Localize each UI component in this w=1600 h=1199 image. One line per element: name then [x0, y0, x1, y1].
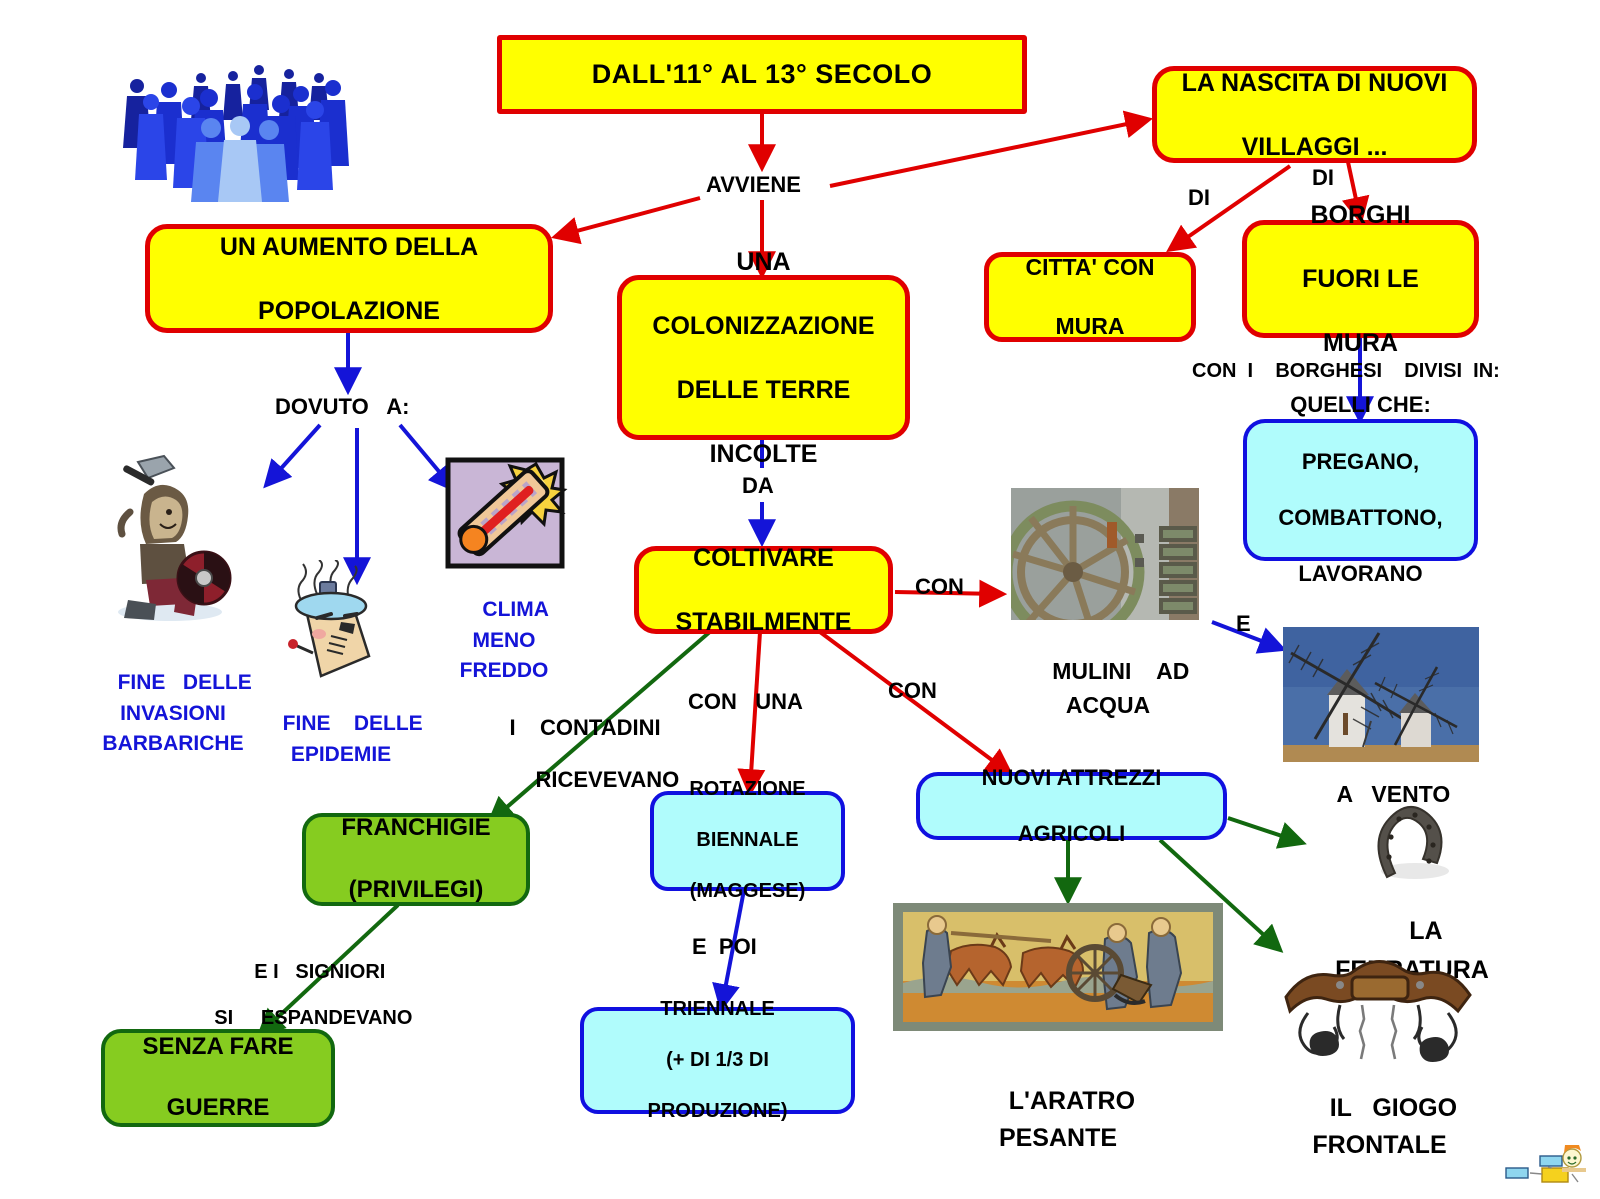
node-nuovi-attrezzi-agricoli-label: NUOVI ATTREZZIAGRICOLI [920, 764, 1223, 848]
connector-label-e-poi: E POI [692, 934, 757, 960]
caption-il-giogo-frontale: IL GIOGOFRONTALE [1272, 1052, 1487, 1199]
connector-label-di-citta: DI [1188, 185, 1210, 211]
connector-label-da: DA [742, 473, 774, 499]
node-coltivare-stabilmente[interactable]: COLTIVARESTABILMENTE [634, 546, 893, 634]
sick-person-illustration [265, 560, 395, 680]
node-aumento-popolazione[interactable]: UN AUMENTO DELLAPOPOLAZIONE [145, 224, 553, 333]
caption-fine-invasioni-barbariche: FINE DELLEINVASIONIBARBARICHE [78, 638, 268, 790]
node-colonizzazione-terre-incolte[interactable]: UNACOLONIZZAZIONEDELLE TERREINCOLTE [617, 275, 910, 440]
barbarian-warrior-illustration [100, 452, 240, 624]
connector-label-e-vento: E [1236, 611, 1251, 637]
medieval-plough-illustration [893, 903, 1223, 1031]
node-rotazione-biennale-label: ROTAZIONEBIENNALE(MAGGESE) [654, 777, 841, 905]
connector-label-con-mulini: CON [915, 574, 964, 600]
horseshoe-photo [1357, 795, 1457, 885]
node-borghi-fuori-le-mura[interactable]: BORGHIFUORI LEMURA [1242, 220, 1479, 338]
node-title[interactable]: DALL'11° AL 13° SECOLO [497, 35, 1027, 114]
connector-label-signori-espandevano: E I SIGNIORI SI ESPANDEVANO [192, 938, 412, 1053]
node-nuovi-attrezzi-agricoli[interactable]: NUOVI ATTREZZIAGRICOLI [916, 772, 1227, 840]
node-nascita-villaggi[interactable]: LA NASCITA DI NUOVIVILLAGGI ... [1152, 66, 1477, 163]
thermometer-sun-illustration [440, 452, 570, 574]
node-quelli-che-label: QUELLI CHE:PREGANO,COMBATTONO,LAVORANO [1247, 391, 1474, 588]
connector-label-con-i-borghesi: CON I BORGHESI DIVISI IN: [1192, 360, 1500, 383]
caption-aratro-pesante: L'ARATROPESANTE [933, 1045, 1183, 1195]
concept-map-logo [1498, 1140, 1590, 1188]
windmills-photo [1283, 627, 1479, 762]
connector-label-con-una: CON UNA [688, 689, 803, 715]
node-title-label: DALL'11° AL 13° SECOLO [502, 57, 1022, 92]
caption-mulini-ad-acqua: MULINI ADACQUA [1018, 622, 1198, 755]
connector-label-con-attrezzi: CON [888, 678, 937, 704]
caption-fine-epidemie: FINE DELLEEPIDEMIE [256, 679, 426, 801]
crowd-of-people-illustration [105, 48, 365, 208]
node-franchigie-privilegi[interactable]: FRANCHIGIE(PRIVILEGI) [302, 813, 530, 906]
node-franchigie-label: FRANCHIGIE(PRIVILEGI) [306, 813, 526, 905]
concept-map-canvas: DALL'11° AL 13° SECOLO UN AUMENTO DELLAP… [0, 0, 1600, 1199]
node-nascita-villaggi-label: LA NASCITA DI NUOVIVILLAGGI ... [1157, 67, 1472, 163]
node-quelli-che[interactable]: QUELLI CHE:PREGANO,COMBATTONO,LAVORANO [1243, 419, 1478, 561]
water-mill-wheel-photo [1011, 488, 1199, 620]
node-borghi-fuori-le-mura-label: BORGHIFUORI LEMURA [1247, 199, 1474, 359]
connector-label-di-borghi: DI [1312, 165, 1334, 191]
node-triennale[interactable]: TRIENNALE(+ DI 1/3 DIPRODUZIONE) [580, 1007, 855, 1114]
connector-label-avviene: AVVIENE [706, 172, 801, 198]
node-aumento-popolazione-label: UN AUMENTO DELLAPOPOLAZIONE [150, 231, 548, 327]
connector-label-dovuto-a: DOVUTO A: [275, 394, 409, 420]
node-colonizzazione-label: UNACOLONIZZAZIONEDELLE TERREINCOLTE [622, 246, 905, 470]
node-coltivare-stabilmente-label: COLTIVARESTABILMENTE [639, 542, 888, 638]
node-triennale-label: TRIENNALE(+ DI 1/3 DIPRODUZIONE) [584, 997, 851, 1125]
node-citta-con-mura[interactable]: CITTA' CONMURA [984, 252, 1196, 342]
node-citta-con-mura-label: CITTA' CONMURA [989, 253, 1191, 341]
caption-clima-meno-freddo: CLIMAMENOFREDDO [440, 565, 568, 717]
